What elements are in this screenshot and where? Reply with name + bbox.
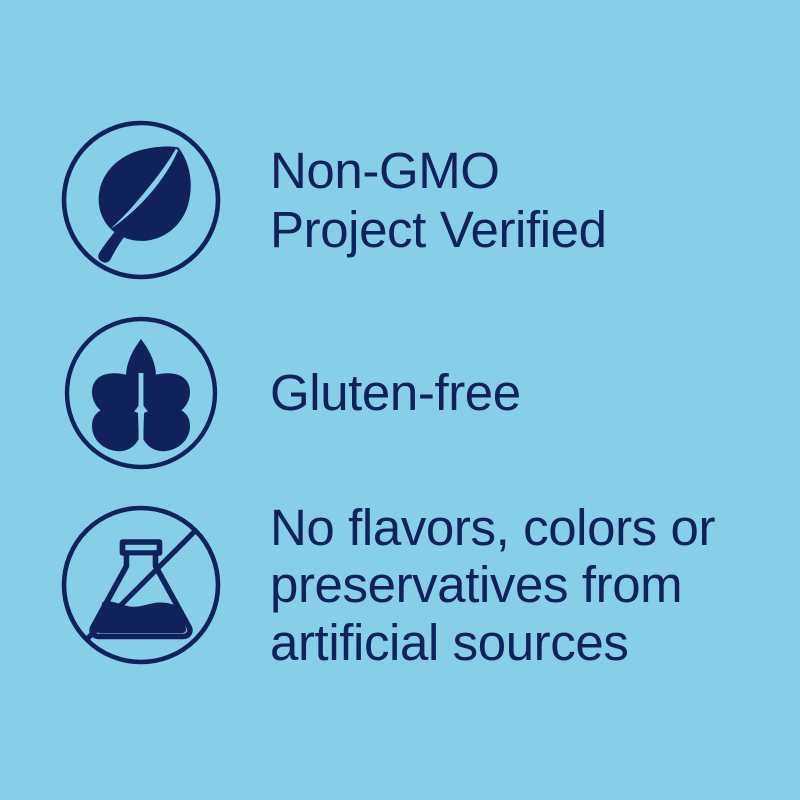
badge-label-gluten-free: Gluten-free (270, 363, 521, 422)
badge-item-no-artificial: No flavors, colors or preservatives from… (0, 485, 800, 685)
badge-label-cell: Non-GMO Project Verified (270, 141, 800, 259)
badge-icon-cell (0, 117, 270, 283)
badge-label-cell: Gluten-free (270, 363, 800, 422)
badge-icon-cell (0, 502, 270, 668)
leaf-icon (58, 117, 224, 283)
badge-panel: Non-GMO Project Verified Gluten-f (0, 0, 800, 800)
badge-label-cell: No flavors, colors or preservatives from… (270, 499, 800, 670)
wheat-icon (61, 313, 221, 473)
badge-label-non-gmo: Non-GMO Project Verified (270, 141, 607, 259)
no-flask-icon (58, 502, 224, 668)
badge-icon-cell (0, 313, 270, 473)
badge-label-no-artificial: No flavors, colors or preservatives from… (270, 499, 715, 670)
badge-item-non-gmo: Non-GMO Project Verified (0, 100, 800, 300)
badge-item-gluten-free: Gluten-free (0, 300, 800, 485)
